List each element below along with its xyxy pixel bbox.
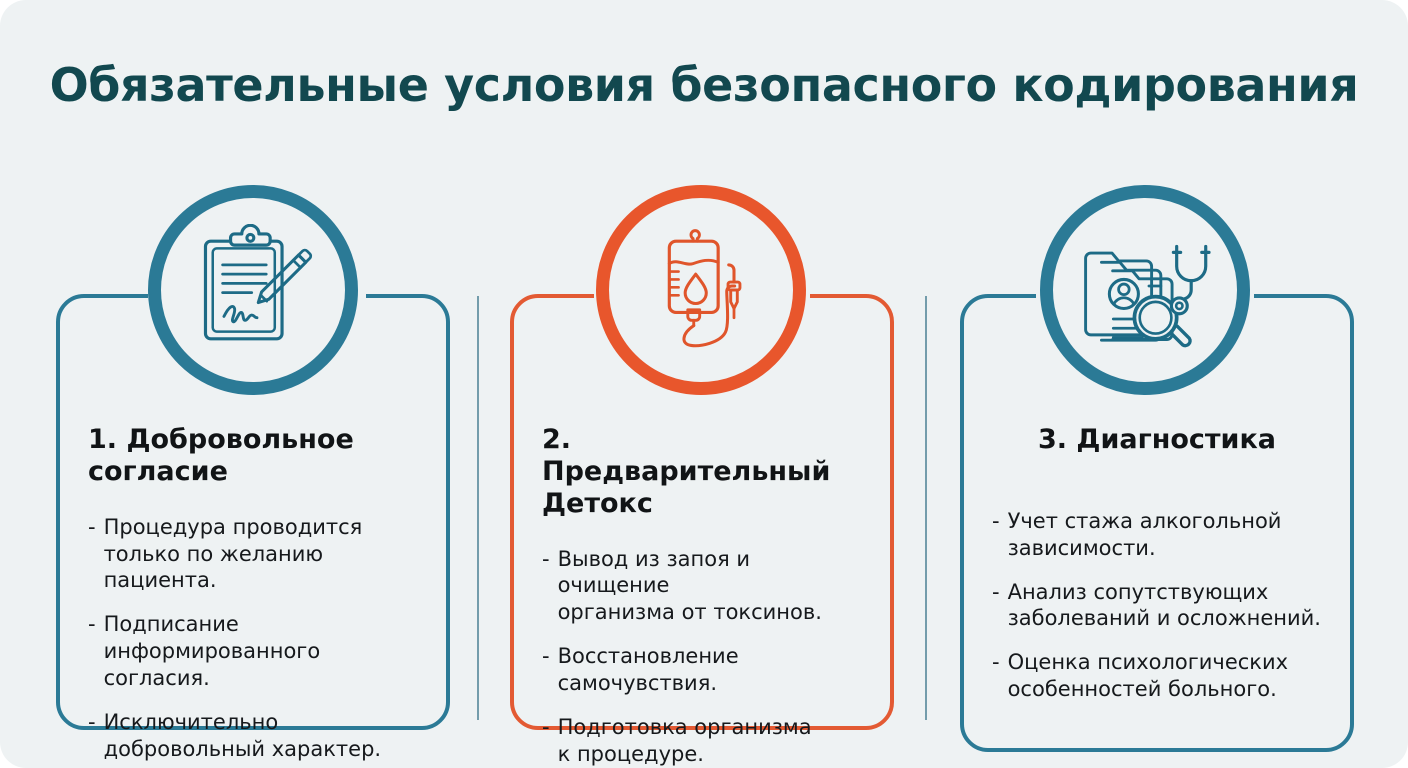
bullet-text: Исключительно добровольный характер.	[104, 709, 418, 763]
bullet-dash-icon: -	[88, 514, 96, 595]
bullet-text: Процедура проводится только по желанию п…	[104, 514, 418, 595]
clipboard-pen-icon	[187, 224, 319, 356]
list-item: - Исключительно добровольный характер.	[88, 709, 418, 763]
bullet-dash-icon: -	[88, 709, 96, 763]
bullet-dash-icon: -	[542, 643, 550, 697]
list-item: - Вывод из запоя и очищение организма от…	[542, 546, 862, 627]
card-2-bullet-list: - Вывод из запоя и очищение организма от…	[542, 546, 862, 768]
icon-circle-diagnostics	[1040, 185, 1250, 395]
patient-file-stethoscope-icon	[1079, 224, 1211, 356]
list-item: - Восстановление самочувствия.	[542, 643, 862, 697]
bullet-text: Учет стажа алкогольной зависимости.	[1008, 508, 1322, 562]
bullet-text: Восстановление самочувствия.	[558, 643, 862, 697]
bullet-dash-icon: -	[992, 579, 1000, 633]
icon-circle-consent	[148, 185, 358, 395]
bullet-text: Подготовка организма к процедуре.	[558, 714, 862, 768]
bullet-dash-icon: -	[88, 611, 96, 692]
card-2-heading: 2. Предварительный Детокс	[542, 424, 862, 520]
card-3-body: 3. Диагностика - Учет стажа алкогольной …	[964, 424, 1350, 703]
bullet-dash-icon: -	[542, 546, 550, 627]
bullet-text: Анализ сопутствующих заболеваний и ослож…	[1008, 579, 1322, 633]
page-title: Обязательные условия безопасного кодиров…	[0, 60, 1408, 111]
list-item: - Учет стажа алкогольной зависимости.	[992, 508, 1322, 562]
card-2-body: 2. Предварительный Детокс - Вывод из зап…	[514, 424, 890, 768]
card-1-bullet-list: - Процедура проводится только по желанию…	[88, 514, 418, 763]
column-divider-1	[477, 296, 479, 720]
bullet-text: Оценка психологических особенностей боль…	[1008, 649, 1322, 703]
bullet-dash-icon: -	[992, 508, 1000, 562]
list-item: - Подготовка организма к процедуре.	[542, 714, 862, 768]
list-item: - Подписание информированного согласия.	[88, 611, 418, 692]
card-3-heading: 3. Диагностика	[992, 424, 1322, 456]
iv-drip-icon	[635, 224, 767, 356]
icon-circle-detox	[596, 185, 806, 395]
column-divider-2	[925, 296, 927, 720]
bullet-dash-icon: -	[542, 714, 550, 768]
list-item: - Оценка психологических особенностей бо…	[992, 649, 1322, 703]
list-item: - Анализ сопутствующих заболеваний и осл…	[992, 579, 1322, 633]
card-3-bullet-list: - Учет стажа алкогольной зависимости. - …	[992, 508, 1322, 703]
list-item: - Процедура проводится только по желанию…	[88, 514, 418, 595]
card-1-body: 1. Добровольное согласие - Процедура про…	[60, 424, 446, 763]
bullet-text: Подписание информированного согласия.	[104, 611, 418, 692]
bullet-text: Вывод из запоя и очищение организма от т…	[558, 546, 862, 627]
card-1-heading: 1. Добровольное согласие	[88, 424, 418, 488]
infographic-root: Обязательные условия безопасного кодиров…	[0, 0, 1408, 768]
bullet-dash-icon: -	[992, 649, 1000, 703]
